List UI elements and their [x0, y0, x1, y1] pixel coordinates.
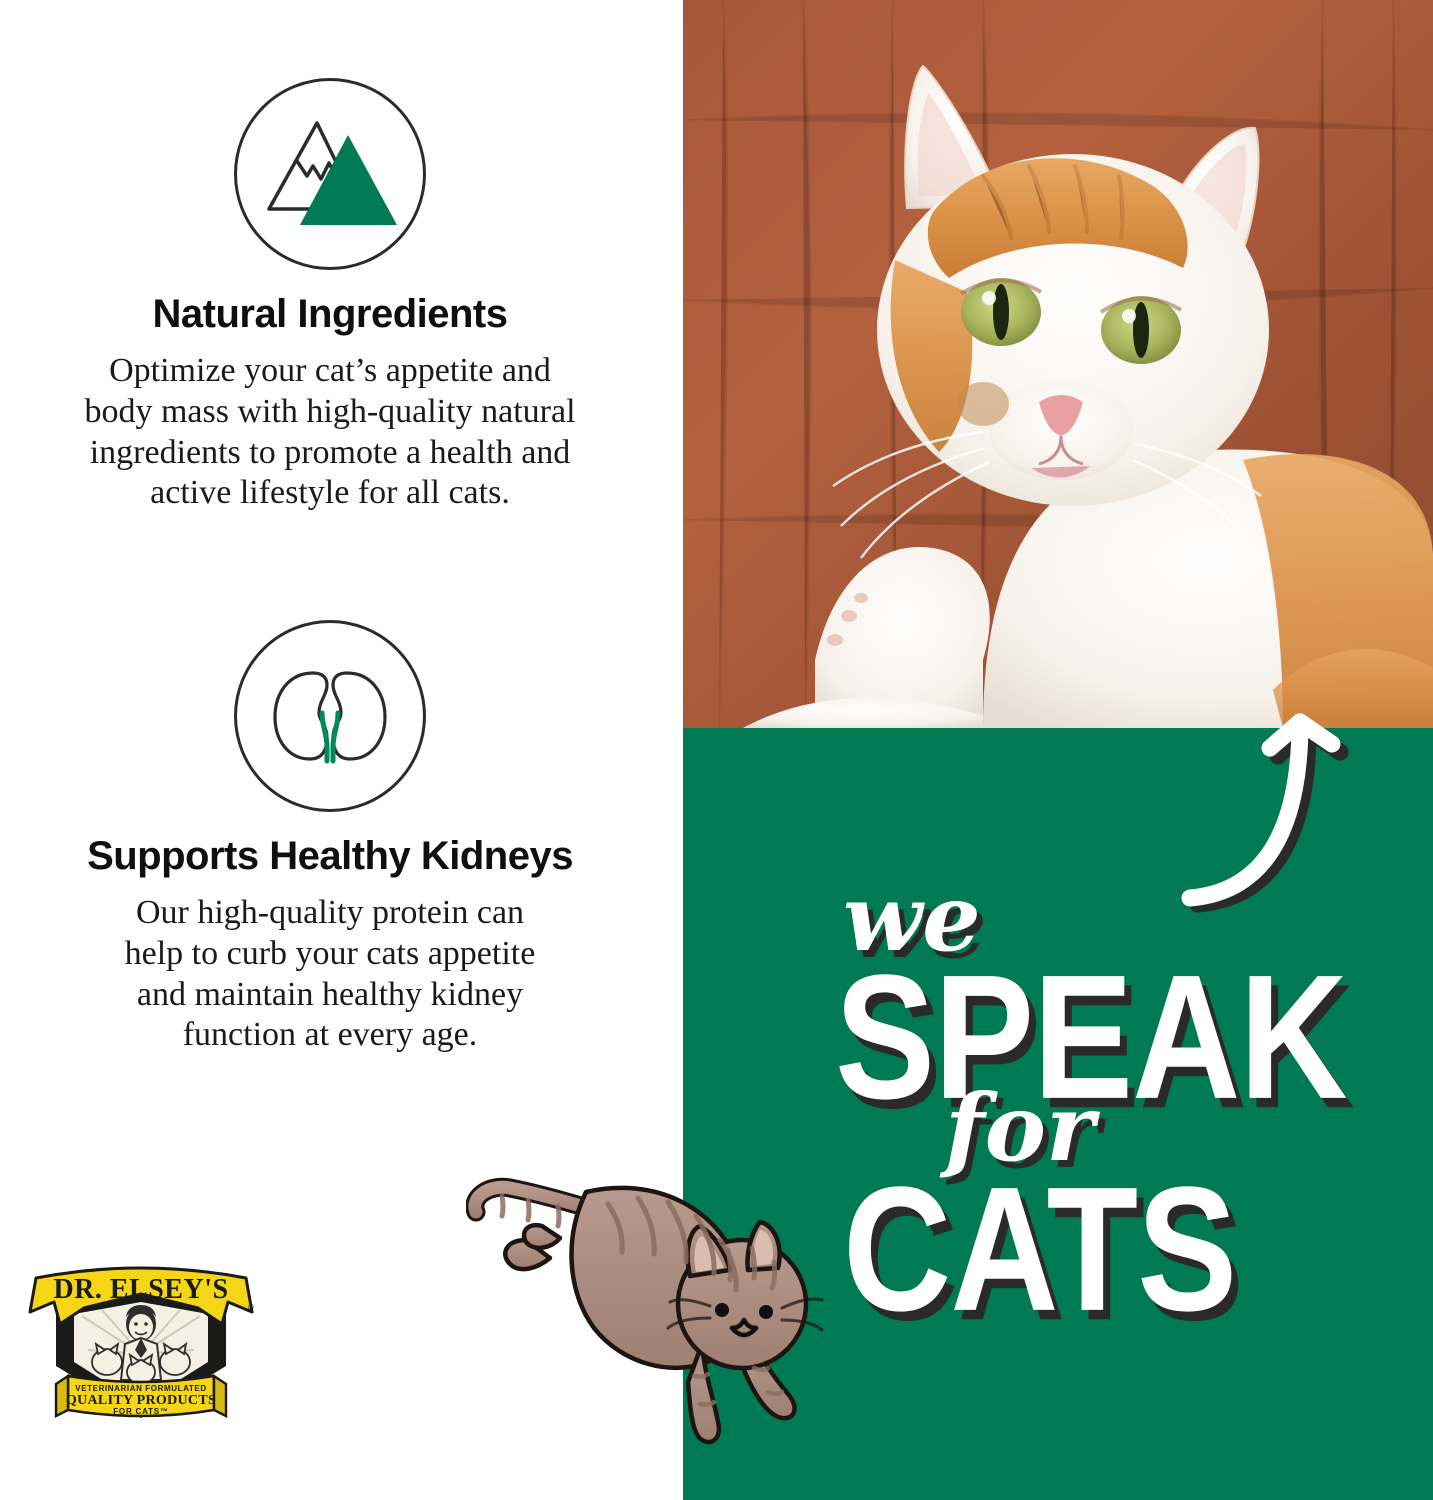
feature-title: Supports Healthy Kidneys: [0, 834, 660, 879]
feature-body-line: Our high-quality protein can: [18, 893, 642, 934]
feature-body-line: active lifestyle for all cats.: [18, 473, 642, 514]
feature-body: Our high-quality protein can help to cur…: [0, 893, 660, 1056]
logo-ribbon-line-3: FOR CATS™: [113, 1407, 169, 1416]
feature-body-line: and maintain healthy kidney: [18, 975, 642, 1016]
kidneys-icon: [234, 620, 426, 812]
cat-photo: [683, 0, 1433, 728]
cartoon-cat-illustration: [466, 1168, 846, 1468]
mountain-icon: [234, 78, 426, 270]
feature-title: Natural Ingredients: [0, 292, 660, 337]
logo-ribbon-line-1: VETERINARIAN FORMULATED: [75, 1384, 206, 1393]
feature-body-line: ingredients to promote a health and: [18, 433, 642, 474]
logo-registered-mark: ®: [248, 1303, 254, 1312]
slogan-line-cats: CATS: [843, 1160, 1236, 1337]
feature-supports-healthy-kidneys: Supports Healthy Kidneys Our high-qualit…: [0, 620, 660, 1056]
feature-body-line: function at every age.: [18, 1015, 642, 1056]
brand-logo: DR. ELSEY'S ® VETERINARIAN FORMULATED QU…: [22, 1258, 260, 1433]
logo-brand-text: DR. ELSEY'S: [53, 1274, 228, 1305]
logo-ribbon-line-2: QUALITY PRODUCTS: [66, 1393, 216, 1408]
product-feature-panel: Natural Ingredients Optimize your cat’s …: [0, 0, 1433, 1500]
feature-body-line: Optimize your cat’s appetite and: [18, 351, 642, 392]
feature-body-line: help to curb your cats appetite: [18, 934, 642, 975]
feature-body-line: body mass with high-quality natural: [18, 392, 642, 433]
feature-natural-ingredients: Natural Ingredients Optimize your cat’s …: [0, 78, 660, 514]
feature-body: Optimize your cat’s appetite and body ma…: [0, 351, 660, 514]
